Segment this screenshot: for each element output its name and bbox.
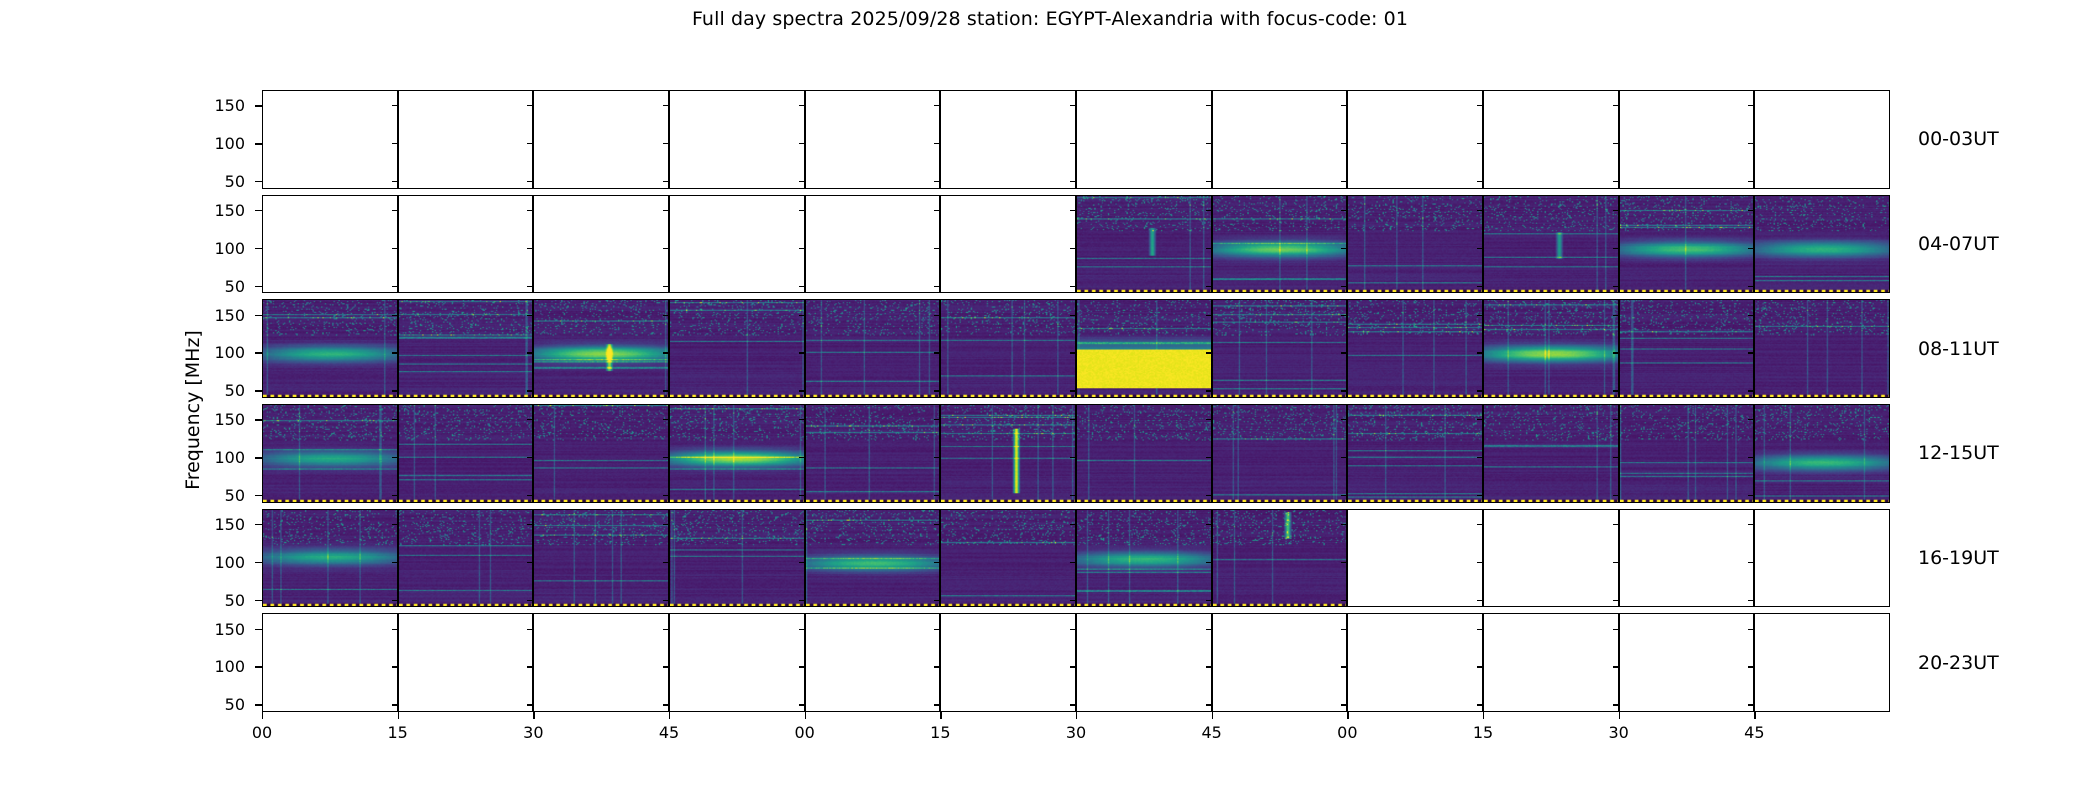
x-tick-mark (669, 712, 670, 719)
figure-title: Full day spectra 2025/09/28 station: EGY… (0, 8, 2100, 30)
spectrogram-panel[interactable] (1483, 613, 1619, 712)
y-tick-mark-inner (1477, 495, 1483, 496)
spectrogram-image (941, 405, 1076, 503)
spectrogram-panel[interactable] (262, 404, 398, 503)
y-tick-label: 50 (185, 381, 245, 400)
y-tick-mark-inner (1477, 704, 1483, 705)
x-tick-mark (1754, 712, 1755, 719)
y-tick-mark-inner (1748, 210, 1754, 211)
spectrogram-panel[interactable] (1347, 509, 1483, 608)
spectrogram-panel[interactable] (1076, 404, 1212, 503)
y-tick-mark-inner (1070, 457, 1076, 458)
spectrogram-panel[interactable] (1619, 299, 1755, 398)
spectrogram-panel[interactable] (669, 90, 805, 189)
spectrogram-panel[interactable] (1754, 509, 1890, 608)
spectrogram-panel[interactable] (940, 404, 1076, 503)
spectrogram-panel[interactable] (1076, 90, 1212, 189)
spectrogram-panel[interactable] (1619, 90, 1755, 189)
spectrogram-panel[interactable] (805, 404, 941, 503)
y-tick-mark-inner (1070, 210, 1076, 211)
y-tick-mark-inner (392, 286, 398, 287)
y-tick-mark-inner (1748, 419, 1754, 420)
y-tick-mark-inner (1341, 315, 1347, 316)
y-tick-mark-inner (1748, 315, 1754, 316)
spectrogram-panel[interactable] (805, 509, 941, 608)
spectrogram-image (1484, 405, 1619, 503)
y-tick-mark-inner (1748, 352, 1754, 353)
y-tick-mark-inner (1748, 390, 1754, 391)
x-tick-label: 30 (1589, 723, 1649, 742)
row-label: 00-03UT (1918, 128, 1999, 150)
y-tick-mark-inner (527, 629, 533, 630)
y-tick-mark-inner (663, 629, 669, 630)
spectrogram-panel[interactable] (1619, 404, 1755, 503)
y-tick-mark-inner (1341, 562, 1347, 563)
spectrogram-image (1620, 196, 1755, 294)
y-tick-mark-inner (1341, 181, 1347, 182)
y-tick-mark-inner (663, 248, 669, 249)
y-tick-mark-inner (392, 390, 398, 391)
y-tick-mark-inner (663, 143, 669, 144)
y-tick-mark-inner (799, 248, 805, 249)
spectrogram-panel[interactable] (533, 404, 669, 503)
spectrogram-panel[interactable] (1212, 613, 1348, 712)
spectrogram-panel[interactable] (669, 299, 805, 398)
y-tick-mark-inner (527, 286, 533, 287)
x-tick-mark (1483, 712, 1484, 719)
spectrogram-panel[interactable] (805, 299, 941, 398)
y-tick-mark-inner (934, 419, 940, 420)
y-tick-mark-inner (1070, 629, 1076, 630)
spectrogram-panel[interactable] (669, 509, 805, 608)
x-tick-mark (533, 712, 534, 719)
spectrogram-panel[interactable] (533, 613, 669, 712)
y-tick-mark (255, 286, 262, 287)
y-tick-mark-inner (799, 210, 805, 211)
figure-canvas: Full day spectra 2025/09/28 station: EGY… (0, 0, 2100, 800)
y-tick-mark-inner (1613, 457, 1619, 458)
y-tick-mark-inner (1748, 286, 1754, 287)
spectrogram-row (262, 613, 1890, 712)
spectrogram-panel[interactable] (398, 299, 534, 398)
spectrogram-row (262, 509, 1890, 608)
y-tick-mark-inner (1748, 666, 1754, 667)
y-tick-mark-inner (1206, 286, 1212, 287)
y-tick-label: 150 (185, 306, 245, 325)
x-tick-label: 30 (1046, 723, 1106, 742)
spectrogram-image (806, 300, 941, 398)
y-tick-mark-inner (1341, 105, 1347, 106)
y-tick-mark-inner (1206, 419, 1212, 420)
spectrogram-image (1213, 510, 1348, 608)
y-tick-mark-inner (1613, 315, 1619, 316)
y-tick-mark-inner (1070, 600, 1076, 601)
y-tick-mark-inner (799, 704, 805, 705)
y-tick-mark-inner (392, 704, 398, 705)
x-tick-mark (262, 712, 263, 719)
y-tick-label: 150 (185, 410, 245, 429)
spectrogram-image (534, 405, 669, 503)
y-tick-mark-inner (1206, 629, 1212, 630)
y-tick-mark-inner (1070, 143, 1076, 144)
y-tick-mark-inner (663, 210, 669, 211)
y-tick-mark-inner (1477, 600, 1483, 601)
y-tick-mark-inner (1477, 352, 1483, 353)
y-tick-mark-inner (1206, 562, 1212, 563)
spectrogram-panel[interactable] (533, 299, 669, 398)
spectrogram-panel[interactable] (1483, 509, 1619, 608)
y-tick-mark-inner (527, 666, 533, 667)
y-tick-mark-inner (1477, 390, 1483, 391)
y-tick-mark-inner (1477, 286, 1483, 287)
spectrogram-panel[interactable] (1619, 195, 1755, 294)
spectrogram-image (1755, 300, 1890, 398)
spectrogram-panel[interactable] (1347, 613, 1483, 712)
spectrogram-image (806, 405, 941, 503)
spectrogram-panel[interactable] (1754, 613, 1890, 712)
x-tick-label: 15 (910, 723, 970, 742)
spectrogram-panel[interactable] (1754, 404, 1890, 503)
spectrogram-panel[interactable] (805, 90, 941, 189)
y-tick-mark (255, 390, 262, 391)
y-tick-mark (255, 524, 262, 525)
y-tick-mark-inner (1477, 143, 1483, 144)
spectrogram-panel[interactable] (1619, 509, 1755, 608)
spectrogram-panel[interactable] (940, 613, 1076, 712)
spectrogram-panel[interactable] (669, 404, 805, 503)
y-tick-mark-inner (1748, 181, 1754, 182)
spectrogram-image (670, 510, 805, 608)
spectrogram-panel[interactable] (262, 195, 398, 294)
y-tick-mark-inner (1206, 457, 1212, 458)
spectrogram-image (1755, 405, 1890, 503)
y-tick-mark-inner (799, 562, 805, 563)
y-tick-mark-inner (1613, 143, 1619, 144)
spectrogram-panel[interactable] (1483, 404, 1619, 503)
y-tick-label: 150 (185, 515, 245, 534)
y-tick-mark-inner (1613, 286, 1619, 287)
y-tick-mark-inner (1206, 495, 1212, 496)
spectrogram-image (1484, 196, 1619, 294)
spectrogram-image (263, 300, 398, 398)
spectrogram-panel[interactable] (1212, 509, 1348, 608)
y-tick-mark-inner (934, 704, 940, 705)
y-tick-mark-inner (663, 704, 669, 705)
y-tick-mark-inner (527, 457, 533, 458)
spectrogram-panel[interactable] (940, 299, 1076, 398)
spectrogram-image (534, 510, 669, 608)
y-tick-mark-inner (1341, 704, 1347, 705)
y-tick-mark-inner (1613, 562, 1619, 563)
y-tick-mark-inner (1206, 390, 1212, 391)
y-tick-mark-inner (527, 105, 533, 106)
spectrogram-panel[interactable] (533, 195, 669, 294)
y-tick-mark-inner (1206, 143, 1212, 144)
y-tick-mark-inner (799, 181, 805, 182)
x-tick-label: 30 (503, 723, 563, 742)
y-tick-mark-inner (799, 495, 805, 496)
y-tick-mark-inner (1070, 524, 1076, 525)
y-tick-mark (255, 210, 262, 211)
x-tick-label: 00 (232, 723, 292, 742)
y-tick-mark-inner (799, 600, 805, 601)
spectrogram-panel[interactable] (533, 509, 669, 608)
y-tick-mark-inner (1613, 704, 1619, 705)
spectrogram-image (1077, 405, 1212, 503)
y-tick-mark-inner (1477, 666, 1483, 667)
x-tick-label: 00 (1317, 723, 1377, 742)
spectrogram-panel[interactable] (805, 195, 941, 294)
spectrogram-row (262, 90, 1890, 189)
x-tick-mark (1347, 712, 1348, 719)
y-tick-mark-inner (1613, 419, 1619, 420)
y-tick-mark-inner (1613, 495, 1619, 496)
y-tick-mark-inner (934, 495, 940, 496)
y-tick-mark-inner (527, 181, 533, 182)
y-tick-mark-inner (1748, 248, 1754, 249)
y-tick-mark-inner (392, 105, 398, 106)
spectrogram-panel[interactable] (1212, 195, 1348, 294)
x-tick-label: 45 (1724, 723, 1784, 742)
y-tick-mark (255, 600, 262, 601)
spectrogram-panel[interactable] (1754, 90, 1890, 189)
spectrogram-image (670, 300, 805, 398)
y-tick-mark-inner (1613, 524, 1619, 525)
y-tick-mark-inner (1748, 524, 1754, 525)
y-tick-mark-inner (1477, 248, 1483, 249)
y-tick-mark-inner (1477, 562, 1483, 563)
y-tick-mark-inner (663, 390, 669, 391)
spectrogram-image (1484, 300, 1619, 398)
y-tick-mark-inner (799, 419, 805, 420)
x-tick-label: 45 (1182, 723, 1242, 742)
y-tick-mark-inner (1748, 105, 1754, 106)
y-tick-label: 100 (185, 553, 245, 572)
y-tick-mark-inner (934, 524, 940, 525)
y-tick-mark-inner (1341, 248, 1347, 249)
spectrogram-panel[interactable] (398, 195, 534, 294)
spectrogram-panel[interactable] (533, 90, 669, 189)
y-tick-mark-inner (1477, 524, 1483, 525)
y-tick-mark-inner (1477, 629, 1483, 630)
y-tick-mark-inner (1477, 419, 1483, 420)
spectrogram-panel[interactable] (1754, 195, 1890, 294)
spectrogram-panel[interactable] (1347, 404, 1483, 503)
y-tick-mark-inner (663, 495, 669, 496)
spectrogram-panel[interactable] (398, 613, 534, 712)
spectrogram-panel[interactable] (398, 90, 534, 189)
y-tick-mark-inner (527, 419, 533, 420)
spectrogram-row (262, 195, 1890, 294)
spectrogram-image (399, 510, 534, 608)
y-tick-mark (255, 181, 262, 182)
y-tick-mark-inner (1477, 210, 1483, 211)
y-tick-mark-inner (392, 315, 398, 316)
spectrogram-panel[interactable] (1076, 509, 1212, 608)
y-tick-mark-inner (392, 419, 398, 420)
y-tick-mark-inner (1070, 286, 1076, 287)
spectrogram-panel[interactable] (1076, 299, 1212, 398)
spectrogram-panel[interactable] (1483, 90, 1619, 189)
y-tick-mark-inner (1341, 600, 1347, 601)
x-tick-mark (805, 712, 806, 719)
y-tick-mark-inner (1477, 105, 1483, 106)
spectrogram-panel[interactable] (1483, 195, 1619, 294)
y-tick-mark-inner (1206, 524, 1212, 525)
y-tick-mark-inner (1477, 457, 1483, 458)
y-tick-mark (255, 143, 262, 144)
spectrogram-panel[interactable] (262, 509, 398, 608)
y-tick-mark-inner (392, 143, 398, 144)
y-tick-mark-inner (1748, 629, 1754, 630)
x-tick-label: 45 (639, 723, 699, 742)
y-tick-mark-inner (663, 315, 669, 316)
y-tick-mark-inner (663, 666, 669, 667)
y-tick-mark-inner (663, 562, 669, 563)
y-tick-label: 150 (185, 620, 245, 639)
y-tick-mark-inner (392, 457, 398, 458)
y-tick-mark-inner (1341, 390, 1347, 391)
y-tick-mark-inner (663, 352, 669, 353)
y-tick-mark (255, 629, 262, 630)
y-tick-mark-inner (934, 315, 940, 316)
spectrogram-image (1620, 405, 1755, 503)
y-tick-mark-inner (1070, 352, 1076, 353)
y-tick-mark-inner (392, 248, 398, 249)
y-tick-mark-inner (663, 457, 669, 458)
y-tick-mark-inner (527, 315, 533, 316)
spectrogram-panel[interactable] (669, 613, 805, 712)
spectrogram-panel[interactable] (262, 613, 398, 712)
y-tick-mark-inner (934, 105, 940, 106)
y-tick-mark-inner (1477, 181, 1483, 182)
y-tick-mark-inner (392, 666, 398, 667)
y-tick-mark-inner (799, 105, 805, 106)
y-tick-mark-inner (663, 419, 669, 420)
row-label: 04-07UT (1918, 233, 1999, 255)
spectrogram-panel[interactable] (1347, 195, 1483, 294)
y-tick-mark-inner (1341, 495, 1347, 496)
x-tick-mark (1076, 712, 1077, 719)
y-tick-mark-inner (663, 181, 669, 182)
spectrogram-panel[interactable] (1347, 90, 1483, 189)
y-tick-mark-inner (527, 143, 533, 144)
y-tick-mark-inner (1206, 248, 1212, 249)
spectrogram-panel[interactable] (805, 613, 941, 712)
y-tick-mark-inner (1341, 524, 1347, 525)
spectrogram-image (670, 405, 805, 503)
row-label: 20-23UT (1918, 652, 1999, 674)
y-tick-mark-inner (1613, 352, 1619, 353)
spectrogram-image (1213, 405, 1348, 503)
plot-area (262, 90, 1890, 712)
spectrogram-panel[interactable] (940, 195, 1076, 294)
spectrogram-panel[interactable] (1347, 299, 1483, 398)
y-tick-mark-inner (527, 495, 533, 496)
spectrogram-image (1213, 196, 1348, 294)
y-tick-mark-inner (1477, 315, 1483, 316)
spectrogram-panel[interactable] (1212, 404, 1348, 503)
spectrogram-image (941, 510, 1076, 608)
spectrogram-image (263, 405, 398, 503)
y-tick-mark-inner (1341, 143, 1347, 144)
y-tick-mark-inner (934, 629, 940, 630)
y-tick-mark-inner (1613, 181, 1619, 182)
spectrogram-panel[interactable] (940, 509, 1076, 608)
y-tick-mark-inner (392, 600, 398, 601)
y-tick-mark-inner (1070, 105, 1076, 106)
y-tick-mark-inner (527, 524, 533, 525)
spectrogram-panel[interactable] (1076, 613, 1212, 712)
y-tick-label: 100 (185, 657, 245, 676)
y-tick-mark-inner (1341, 352, 1347, 353)
y-tick-mark-inner (527, 390, 533, 391)
y-tick-mark-inner (1341, 419, 1347, 420)
y-tick-mark-inner (1613, 248, 1619, 249)
y-tick-mark-inner (1613, 600, 1619, 601)
y-tick-mark-inner (799, 629, 805, 630)
y-tick-mark-inner (1070, 181, 1076, 182)
y-tick-mark-inner (1341, 210, 1347, 211)
y-tick-label: 100 (185, 134, 245, 153)
spectrogram-row (262, 404, 1890, 503)
spectrogram-panel[interactable] (1483, 299, 1619, 398)
spectrogram-panel[interactable] (669, 195, 805, 294)
y-tick-mark-inner (527, 248, 533, 249)
y-tick-mark-inner (934, 181, 940, 182)
y-tick-mark-inner (799, 524, 805, 525)
y-tick-mark-inner (934, 600, 940, 601)
y-tick-mark-inner (1070, 666, 1076, 667)
y-tick-mark-inner (1206, 181, 1212, 182)
spectrogram-panel[interactable] (262, 299, 398, 398)
row-label: 16-19UT (1918, 547, 1999, 569)
spectrogram-image (941, 300, 1076, 398)
spectrogram-panel[interactable] (262, 90, 398, 189)
y-tick-mark-inner (1748, 704, 1754, 705)
y-tick-mark-inner (934, 457, 940, 458)
spectrogram-panel[interactable] (1754, 299, 1890, 398)
y-tick-mark-inner (1206, 600, 1212, 601)
y-tick-mark-inner (799, 390, 805, 391)
y-tick-mark-inner (1613, 666, 1619, 667)
y-tick-mark-inner (1613, 105, 1619, 106)
y-tick-mark-inner (527, 600, 533, 601)
y-tick-mark-inner (392, 629, 398, 630)
spectrogram-panel[interactable] (1076, 195, 1212, 294)
y-tick-mark-inner (799, 143, 805, 144)
spectrogram-panel[interactable] (398, 509, 534, 608)
spectrogram-panel[interactable] (398, 404, 534, 503)
y-tick-mark-inner (1070, 315, 1076, 316)
spectrogram-panel[interactable] (940, 90, 1076, 189)
y-tick-mark-inner (1070, 495, 1076, 496)
y-tick-label: 50 (185, 277, 245, 296)
row-label: 12-15UT (1918, 442, 1999, 464)
y-tick-mark-inner (1341, 286, 1347, 287)
y-tick-mark-inner (1613, 390, 1619, 391)
spectrogram-panel[interactable] (1212, 90, 1348, 189)
spectrogram-panel[interactable] (1619, 613, 1755, 712)
y-tick-mark-inner (1613, 210, 1619, 211)
spectrogram-panel[interactable] (1212, 299, 1348, 398)
y-tick-mark-inner (527, 352, 533, 353)
y-tick-mark-inner (1206, 704, 1212, 705)
x-tick-mark (940, 712, 941, 719)
y-tick-mark (255, 495, 262, 496)
y-tick-mark-inner (392, 495, 398, 496)
x-tick-label: 15 (1453, 723, 1513, 742)
